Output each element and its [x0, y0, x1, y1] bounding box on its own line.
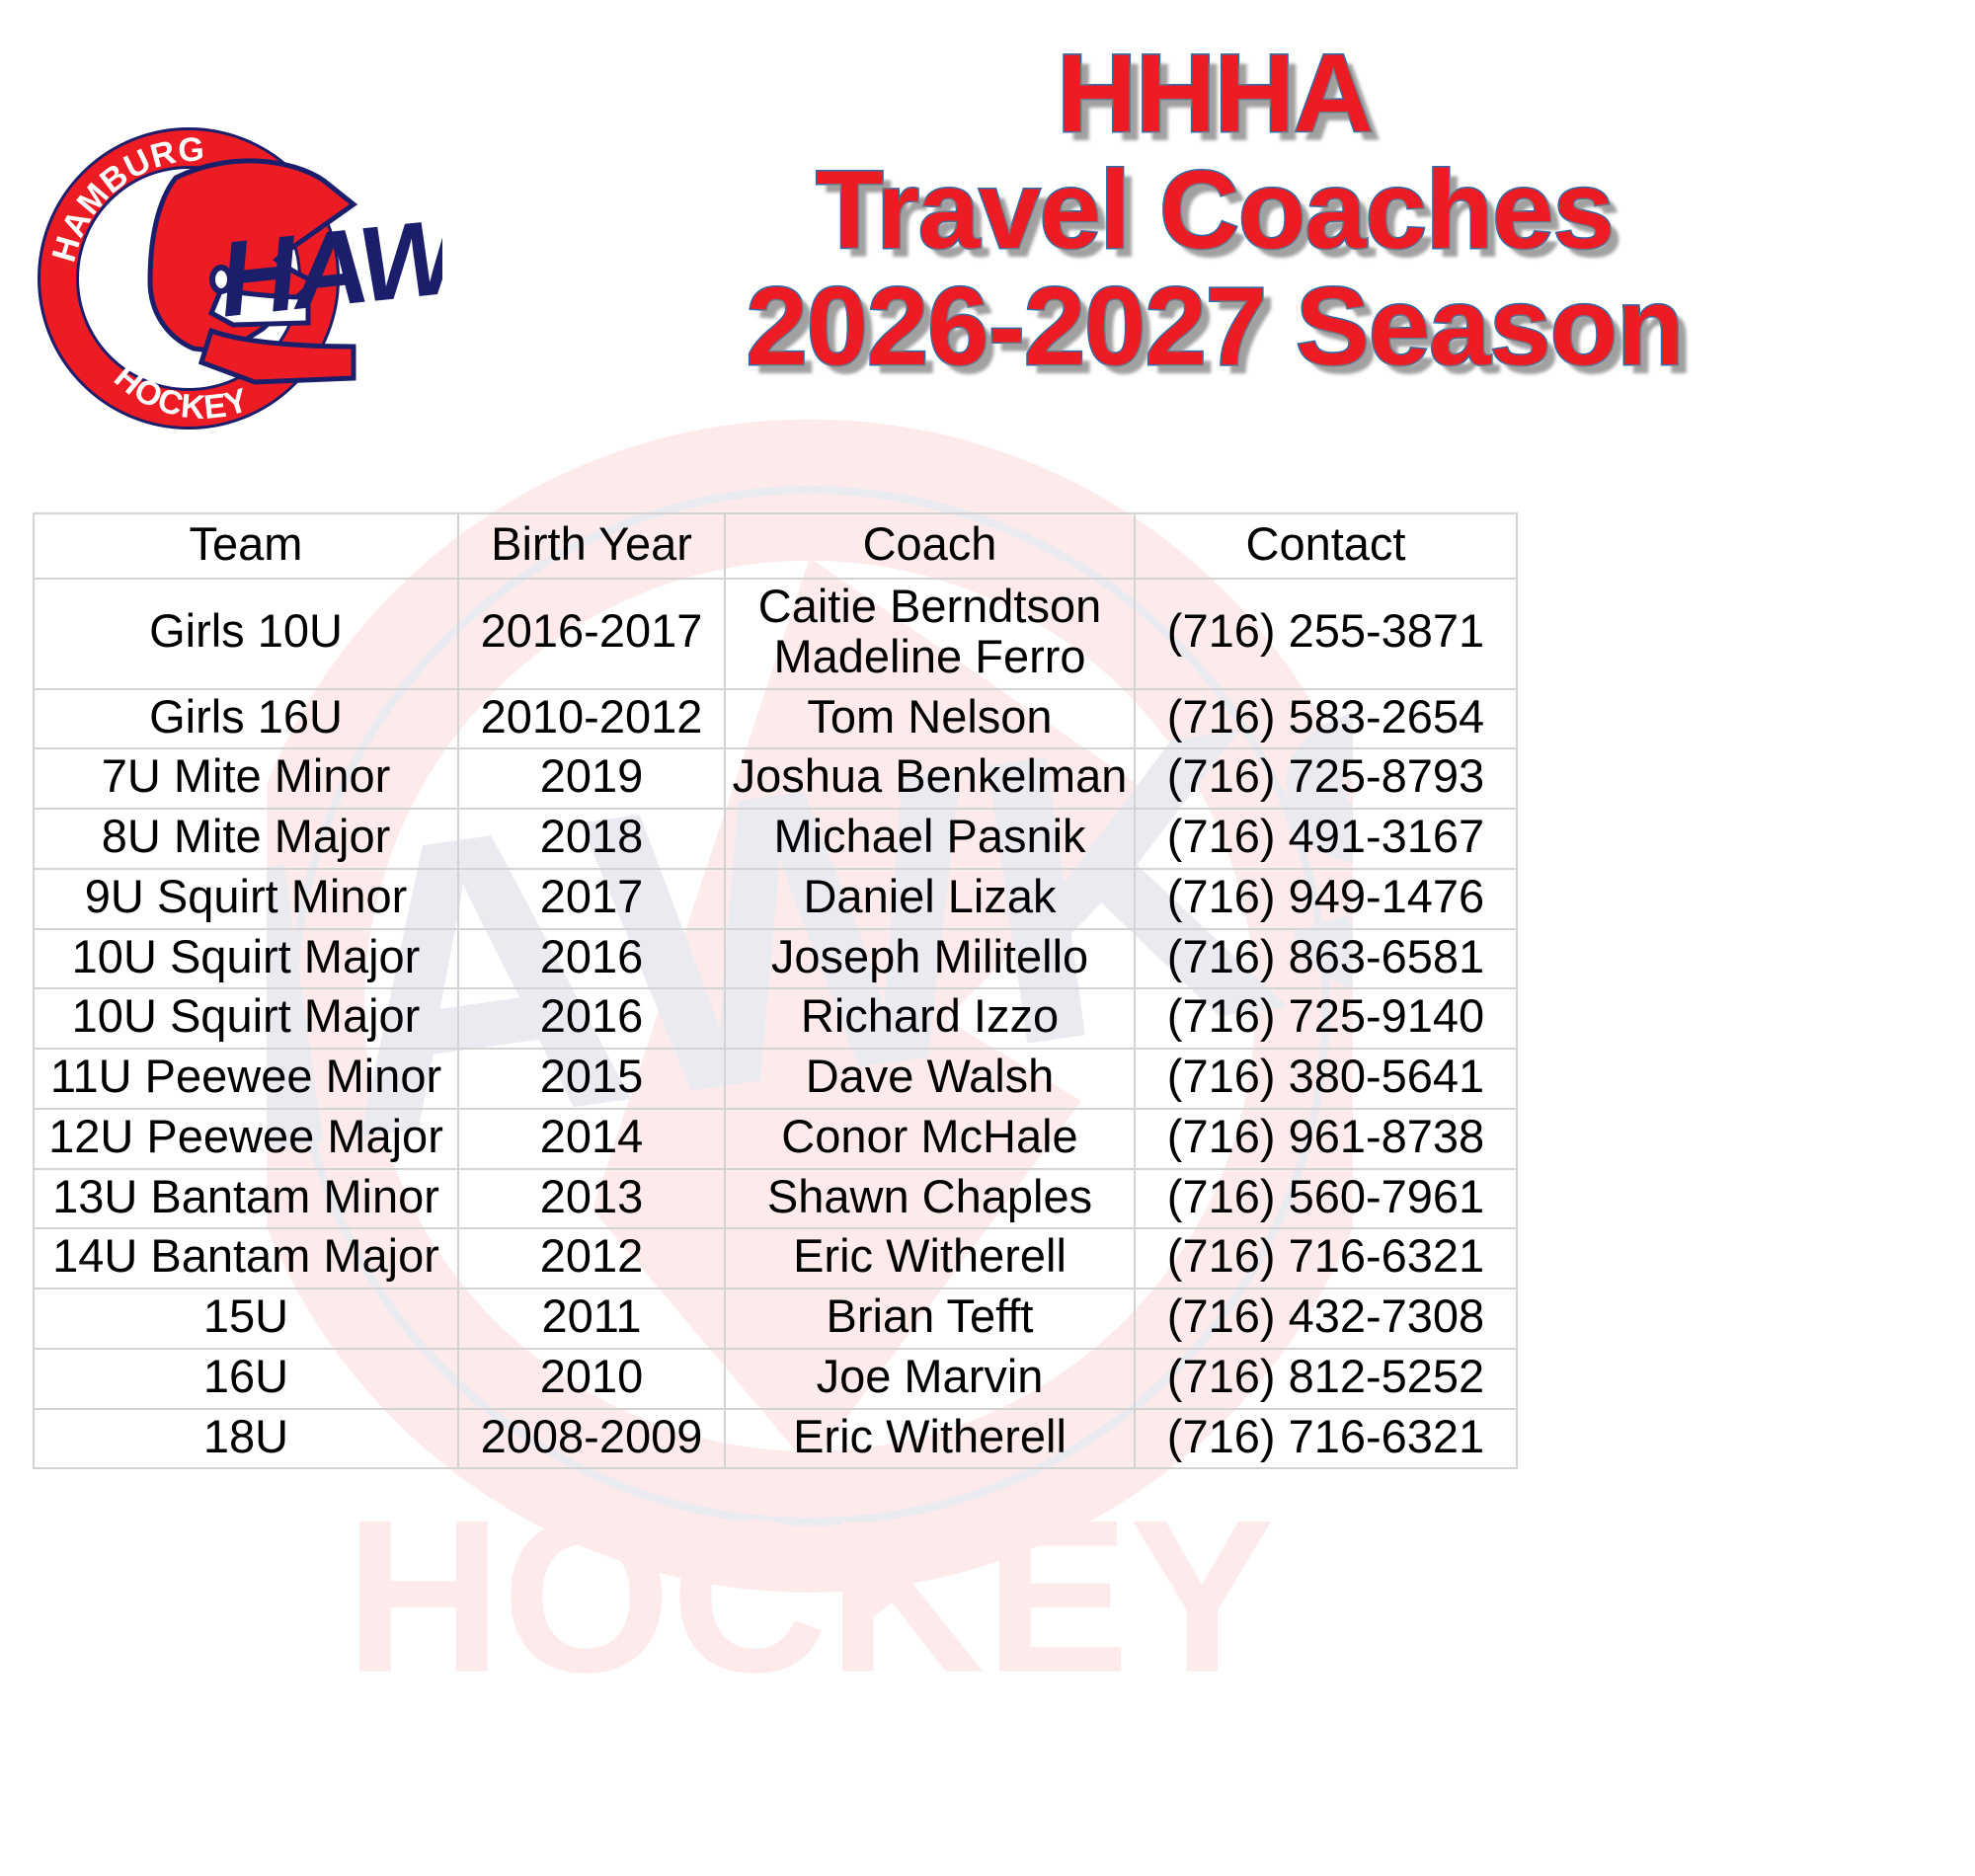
coach-name: Michael Pasnik	[732, 812, 1128, 862]
cell-team: Girls 10U	[34, 579, 458, 689]
table-row: 14U Bantam Major2012Eric Witherell(716) …	[34, 1228, 1517, 1289]
cell-team: 13U Bantam Minor	[34, 1169, 458, 1229]
coach-name: Caitie Berndtson	[732, 582, 1128, 632]
cell-coach: Daniel Lizak	[725, 869, 1135, 929]
cell-coach: Richard Izzo	[725, 988, 1135, 1049]
page-header: HAMBURG HOCKEY HAWKS HHHA Travel Coaches…	[0, 0, 1975, 494]
cell-contact[interactable]: (716) 583-2654	[1135, 689, 1517, 749]
cell-birth-year: 2014	[458, 1109, 725, 1169]
coach-name: Dave Walsh	[732, 1052, 1128, 1102]
table-row: 10U Squirt Major2016Joseph Militello(716…	[34, 929, 1517, 989]
coach-name: Conor McHale	[732, 1112, 1128, 1162]
table-row: 11U Peewee Minor2015Dave Walsh(716) 380-…	[34, 1049, 1517, 1109]
cell-coach: Joe Marvin	[725, 1349, 1135, 1409]
cell-birth-year: 2010-2012	[458, 689, 725, 749]
coach-name: Madeline Ferro	[732, 632, 1128, 682]
cell-contact[interactable]: (716) 949-1476	[1135, 869, 1517, 929]
cell-coach: Joshua Benkelman	[725, 748, 1135, 809]
cell-birth-year: 2016	[458, 929, 725, 989]
cell-birth-year: 2008-2009	[458, 1409, 725, 1469]
cell-birth-year: 2010	[458, 1349, 725, 1409]
cell-contact[interactable]: (716) 716-6321	[1135, 1228, 1517, 1289]
cell-team: 16U	[34, 1349, 458, 1409]
column-header-team: Team	[34, 513, 458, 579]
column-header-coach: Coach	[725, 513, 1135, 579]
table-body: Girls 10U2016-2017Caitie BerndtsonMadeli…	[34, 579, 1517, 1468]
coach-name: Eric Witherell	[732, 1231, 1128, 1282]
cell-contact[interactable]: (716) 491-3167	[1135, 809, 1517, 869]
cell-coach: Conor McHale	[725, 1109, 1135, 1169]
cell-contact[interactable]: (716) 863-6581	[1135, 929, 1517, 989]
cell-birth-year: 2017	[458, 869, 725, 929]
hamburg-hawks-logo: HAMBURG HOCKEY HAWKS	[28, 94, 442, 439]
coach-name: Joshua Benkelman	[732, 751, 1128, 802]
table-row: 12U Peewee Major2014Conor McHale(716) 96…	[34, 1109, 1517, 1169]
coach-name: Joe Marvin	[732, 1352, 1128, 1402]
cell-team: 10U Squirt Major	[34, 988, 458, 1049]
page-title: HHHA Travel Coaches 2026-2027 Season	[484, 38, 1945, 384]
table-row: 13U Bantam Minor2013Shawn Chaples(716) 5…	[34, 1169, 1517, 1229]
table-header-row: Team Birth Year Coach Contact	[34, 513, 1517, 579]
title-line-2: Travel Coaches	[484, 154, 1945, 267]
cell-team: 15U	[34, 1289, 458, 1349]
cell-coach: Caitie BerndtsonMadeline Ferro	[725, 579, 1135, 689]
cell-team: 8U Mite Major	[34, 809, 458, 869]
cell-team: 10U Squirt Major	[34, 929, 458, 989]
cell-coach: Tom Nelson	[725, 689, 1135, 749]
cell-team: 14U Bantam Major	[34, 1228, 458, 1289]
cell-contact[interactable]: (716) 716-6321	[1135, 1409, 1517, 1469]
coaches-table-wrapper: Team Birth Year Coach Contact Girls 10U2…	[33, 512, 1516, 1469]
table-row: 18U2008-2009Eric Witherell(716) 716-6321	[34, 1409, 1517, 1469]
cell-coach: Eric Witherell	[725, 1228, 1135, 1289]
coach-name: Richard Izzo	[732, 991, 1128, 1042]
cell-team: 18U	[34, 1409, 458, 1469]
column-header-contact: Contact	[1135, 513, 1517, 579]
table-row: Girls 10U2016-2017Caitie BerndtsonMadeli…	[34, 579, 1517, 689]
cell-contact[interactable]: (716) 255-3871	[1135, 579, 1517, 689]
cell-birth-year: 2018	[458, 809, 725, 869]
coach-name: Daniel Lizak	[732, 872, 1128, 922]
cell-coach: Dave Walsh	[725, 1049, 1135, 1109]
cell-birth-year: 2013	[458, 1169, 725, 1229]
cell-contact[interactable]: (716) 725-9140	[1135, 988, 1517, 1049]
cell-contact[interactable]: (716) 812-5252	[1135, 1349, 1517, 1409]
cell-birth-year: 2016	[458, 988, 725, 1049]
cell-coach: Shawn Chaples	[725, 1169, 1135, 1229]
table-row: 16U2010Joe Marvin(716) 812-5252	[34, 1349, 1517, 1409]
svg-text:HOCKEY: HOCKEY	[345, 1475, 1274, 1718]
cell-coach: Joseph Militello	[725, 929, 1135, 989]
coach-name: Eric Witherell	[732, 1412, 1128, 1462]
cell-team: 11U Peewee Minor	[34, 1049, 458, 1109]
cell-coach: Eric Witherell	[725, 1409, 1135, 1469]
cell-team: 7U Mite Minor	[34, 748, 458, 809]
cell-coach: Brian Tefft	[725, 1289, 1135, 1349]
column-header-birth-year: Birth Year	[458, 513, 725, 579]
title-line-1: HHHA	[484, 38, 1945, 150]
table-row: 9U Squirt Minor2017Daniel Lizak(716) 949…	[34, 869, 1517, 929]
cell-birth-year: 2019	[458, 748, 725, 809]
cell-contact[interactable]: (716) 380-5641	[1135, 1049, 1517, 1109]
cell-birth-year: 2011	[458, 1289, 725, 1349]
table-row: 7U Mite Minor2019Joshua Benkelman(716) 7…	[34, 748, 1517, 809]
coach-name: Brian Tefft	[732, 1291, 1128, 1342]
cell-birth-year: 2012	[458, 1228, 725, 1289]
coach-name: Tom Nelson	[732, 692, 1128, 743]
table-row: Girls 16U2010-2012Tom Nelson(716) 583-26…	[34, 689, 1517, 749]
table-row: 8U Mite Major2018Michael Pasnik(716) 491…	[34, 809, 1517, 869]
cell-contact[interactable]: (716) 725-8793	[1135, 748, 1517, 809]
cell-birth-year: 2016-2017	[458, 579, 725, 689]
cell-team: 9U Squirt Minor	[34, 869, 458, 929]
cell-team: 12U Peewee Major	[34, 1109, 458, 1169]
coach-name: Shawn Chaples	[732, 1172, 1128, 1222]
cell-contact[interactable]: (716) 961-8738	[1135, 1109, 1517, 1169]
table-row: 10U Squirt Major2016Richard Izzo(716) 72…	[34, 988, 1517, 1049]
table-row: 15U2011Brian Tefft(716) 432-7308	[34, 1289, 1517, 1349]
cell-contact[interactable]: (716) 560-7961	[1135, 1169, 1517, 1229]
cell-coach: Michael Pasnik	[725, 809, 1135, 869]
cell-birth-year: 2015	[458, 1049, 725, 1109]
coaches-table: Team Birth Year Coach Contact Girls 10U2…	[33, 512, 1518, 1469]
coach-name: Joseph Militello	[732, 932, 1128, 982]
cell-contact[interactable]: (716) 432-7308	[1135, 1289, 1517, 1349]
cell-team: Girls 16U	[34, 689, 458, 749]
title-line-3: 2026-2027 Season	[484, 271, 1945, 383]
